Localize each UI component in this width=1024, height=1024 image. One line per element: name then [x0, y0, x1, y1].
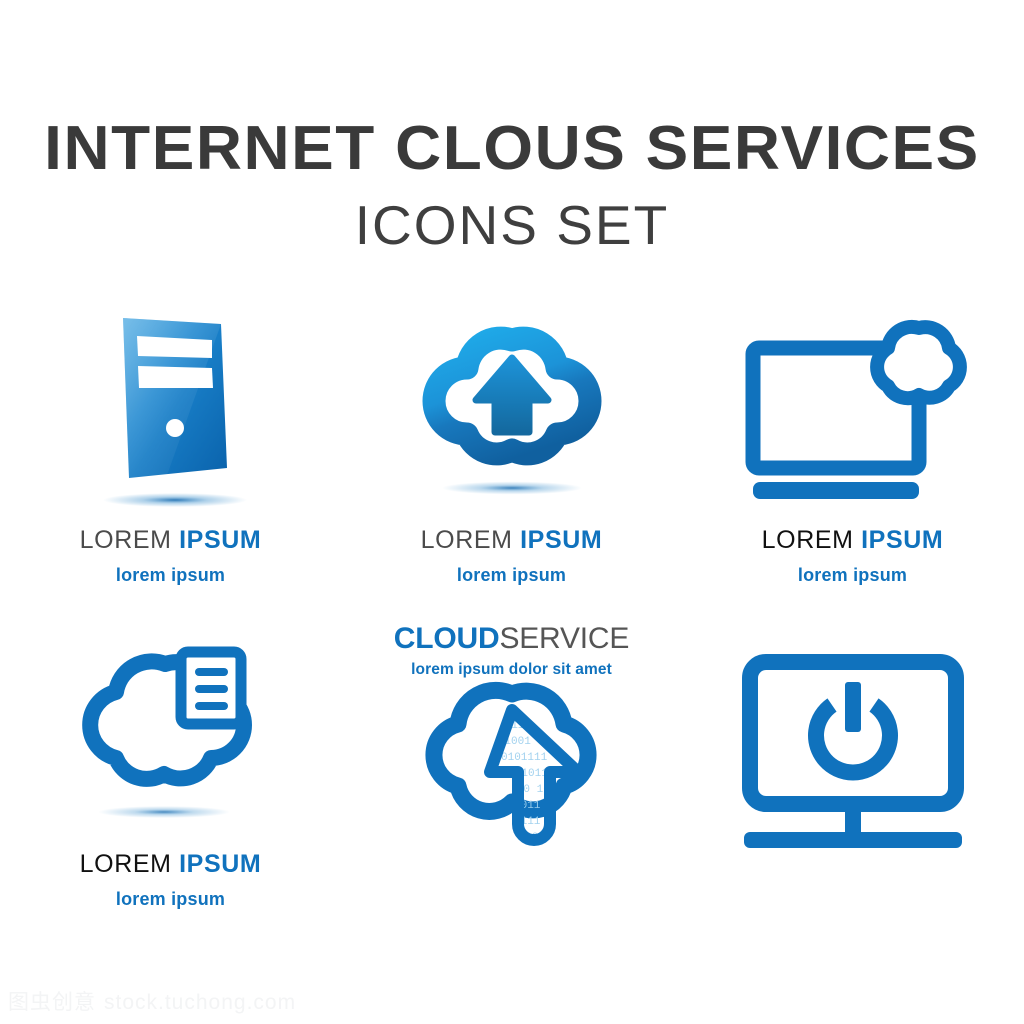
icon-label-secondary: lorem ipsum: [0, 890, 341, 908]
icon-label-block: LOREM IPSUM lorem ipsum: [341, 528, 682, 584]
icon-label-secondary: lorem ipsum: [682, 566, 1023, 584]
monitor-power-icon: [682, 644, 1023, 864]
cloud-binary-upload-icon: 1111 10101001 101010101111 1111011101011…: [341, 666, 682, 866]
icon-label-secondary: lorem ipsum: [0, 566, 341, 584]
icon-grid: LOREM IPSUM lorem ipsum: [0, 300, 1024, 940]
icon-label-primary: LOREM IPSUM: [0, 528, 341, 553]
svg-text:101010101111: 101010101111: [468, 752, 548, 764]
brand-word2: SERVICE: [499, 622, 629, 655]
icon-label-primary: LOREM IPSUM: [0, 852, 341, 877]
icon-card-server-tower[interactable]: LOREM IPSUM lorem ipsum: [0, 300, 341, 620]
icon-label-word1: LOREM: [80, 850, 172, 878]
page-subtitle: ICONS SET: [0, 198, 1024, 253]
icon-card-laptop-cloud[interactable]: LOREM IPSUM lorem ipsum: [682, 300, 1023, 620]
icon-label-word1: LOREM: [80, 526, 172, 554]
icon-label-word1: LOREM: [762, 526, 854, 554]
icon-label-word2: IPSUM: [179, 850, 261, 878]
icon-card-cloud-upload[interactable]: LOREM IPSUM lorem ipsum: [341, 300, 682, 620]
icon-label-word2: IPSUM: [179, 526, 261, 554]
page-header: INTERNET CLOUS SERVICES ICONS SET: [0, 118, 1024, 253]
watermark: 图虫创意stock.tuchong.com: [8, 986, 296, 1016]
icon-label-word2: IPSUM: [861, 526, 943, 554]
watermark-chinese: 图虫创意: [8, 991, 96, 1014]
icon-card-monitor-power[interactable]: [682, 620, 1023, 940]
icon-label-word2: IPSUM: [520, 526, 602, 554]
watermark-latin: stock.tuchong.com: [104, 991, 296, 1014]
cloud-upload-arrow-icon: [341, 300, 682, 530]
icon-card-cloud-service[interactable]: CLOUDSERVICE lorem ipsum dolor sit amet …: [341, 620, 682, 940]
icon-label-primary: LOREM IPSUM: [682, 528, 1023, 553]
icon-label-secondary: lorem ipsum: [341, 566, 682, 584]
server-tower-icon: [0, 300, 341, 530]
icon-label-block: LOREM IPSUM lorem ipsum: [682, 528, 1023, 584]
icon-card-cloud-document[interactable]: LOREM IPSUM lorem ipsum: [0, 620, 341, 940]
icon-label-primary: LOREM IPSUM: [341, 528, 682, 553]
laptop-cloud-icon: [682, 300, 1023, 530]
cloud-document-icon: [0, 620, 341, 850]
brand-word1: CLOUD: [394, 622, 500, 655]
brand-name: CLOUDSERVICE: [341, 624, 682, 654]
icon-label-word1: LOREM: [421, 526, 513, 554]
page-title: INTERNET CLOUS SERVICES: [0, 118, 1024, 180]
icon-label-block: LOREM IPSUM lorem ipsum: [0, 852, 341, 908]
icon-label-block: LOREM IPSUM lorem ipsum: [0, 528, 341, 584]
